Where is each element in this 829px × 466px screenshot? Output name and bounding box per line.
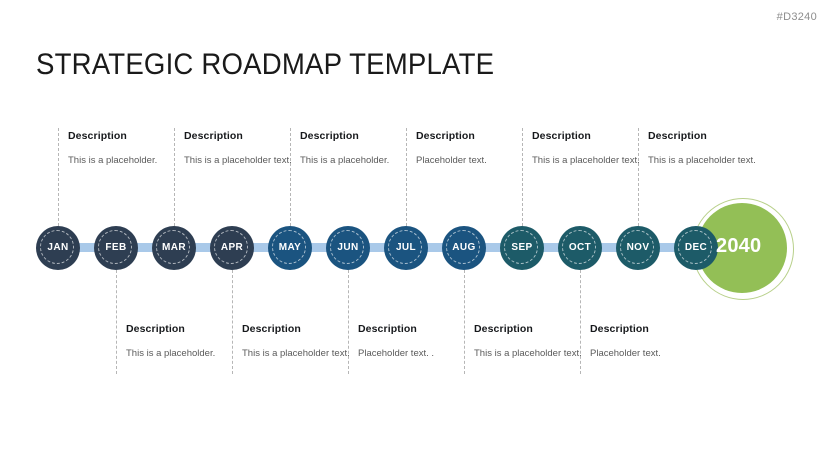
year-label: 2040: [716, 235, 786, 258]
description-block: DescriptionThis is a placeholder text.: [184, 130, 296, 168]
description-body: This is a placeholder text.: [648, 154, 760, 168]
month-label: MAR: [162, 243, 186, 253]
description-title: Description: [300, 130, 412, 143]
dropline-lower: [116, 270, 117, 374]
month-label: JAN: [47, 243, 68, 253]
month-node-jul[interactable]: JUL: [384, 226, 428, 270]
description-body: This is a placeholder.: [300, 154, 412, 168]
month-label: SEP: [511, 243, 532, 253]
month-label: APR: [221, 243, 243, 253]
month-node-feb[interactable]: FEB: [94, 226, 138, 270]
description-title: Description: [358, 323, 470, 336]
month-node-aug[interactable]: AUG: [442, 226, 486, 270]
month-node-nov[interactable]: NOV: [616, 226, 660, 270]
month-label: OCT: [569, 243, 591, 253]
month-node-jun[interactable]: JUN: [326, 226, 370, 270]
description-block: DescriptionThis is a placeholder.: [300, 130, 412, 168]
description-block: DescriptionThis is a placeholder.: [68, 130, 180, 168]
description-title: Description: [68, 130, 180, 143]
month-label: JUN: [337, 243, 358, 253]
description-title: Description: [648, 130, 760, 143]
description-body: This is a placeholder text.: [474, 347, 586, 361]
month-label: DEC: [685, 243, 707, 253]
month-node-mar[interactable]: MAR: [152, 226, 196, 270]
month-label: MAY: [279, 243, 302, 253]
month-node-jan[interactable]: JAN: [36, 226, 80, 270]
description-block: DescriptionThis is a placeholder.: [126, 323, 238, 361]
description-title: Description: [126, 323, 238, 336]
dropline-upper: [58, 128, 59, 226]
description-body: Placeholder text.: [416, 154, 528, 168]
document-code-label: #D3240: [777, 11, 817, 23]
description-title: Description: [590, 323, 702, 336]
description-block: DescriptionThis is a placeholder text.: [242, 323, 354, 361]
description-title: Description: [532, 130, 644, 143]
description-block: DescriptionThis is a placeholder text.: [474, 323, 586, 361]
description-body: This is a placeholder.: [68, 154, 180, 168]
description-body: This is a placeholder text.: [532, 154, 644, 168]
slide-canvas: #D3240 STRATEGIC ROADMAP TEMPLATE Descri…: [0, 0, 829, 466]
description-block: DescriptionThis is a placeholder text.: [648, 130, 760, 168]
month-node-oct[interactable]: OCT: [558, 226, 602, 270]
month-label: NOV: [627, 243, 650, 253]
month-node-apr[interactable]: APR: [210, 226, 254, 270]
page-title: STRATEGIC ROADMAP TEMPLATE: [36, 48, 494, 82]
description-body: Placeholder text. .: [358, 347, 470, 361]
month-node-dec[interactable]: DEC: [674, 226, 718, 270]
description-block: DescriptionPlaceholder text. .: [358, 323, 470, 361]
description-title: Description: [474, 323, 586, 336]
month-node-sep[interactable]: SEP: [500, 226, 544, 270]
description-body: This is a placeholder text.: [242, 347, 354, 361]
description-body: This is a placeholder.: [126, 347, 238, 361]
month-label: AUG: [452, 243, 475, 253]
description-title: Description: [184, 130, 296, 143]
description-title: Description: [416, 130, 528, 143]
description-block: DescriptionThis is a placeholder text.: [532, 130, 644, 168]
description-title: Description: [242, 323, 354, 336]
description-body: Placeholder text.: [590, 347, 702, 361]
month-node-may[interactable]: MAY: [268, 226, 312, 270]
month-label: FEB: [105, 243, 126, 253]
month-label: JUL: [396, 243, 416, 253]
description-block: DescriptionPlaceholder text.: [416, 130, 528, 168]
description-block: DescriptionPlaceholder text.: [590, 323, 702, 361]
description-body: This is a placeholder text.: [184, 154, 296, 168]
